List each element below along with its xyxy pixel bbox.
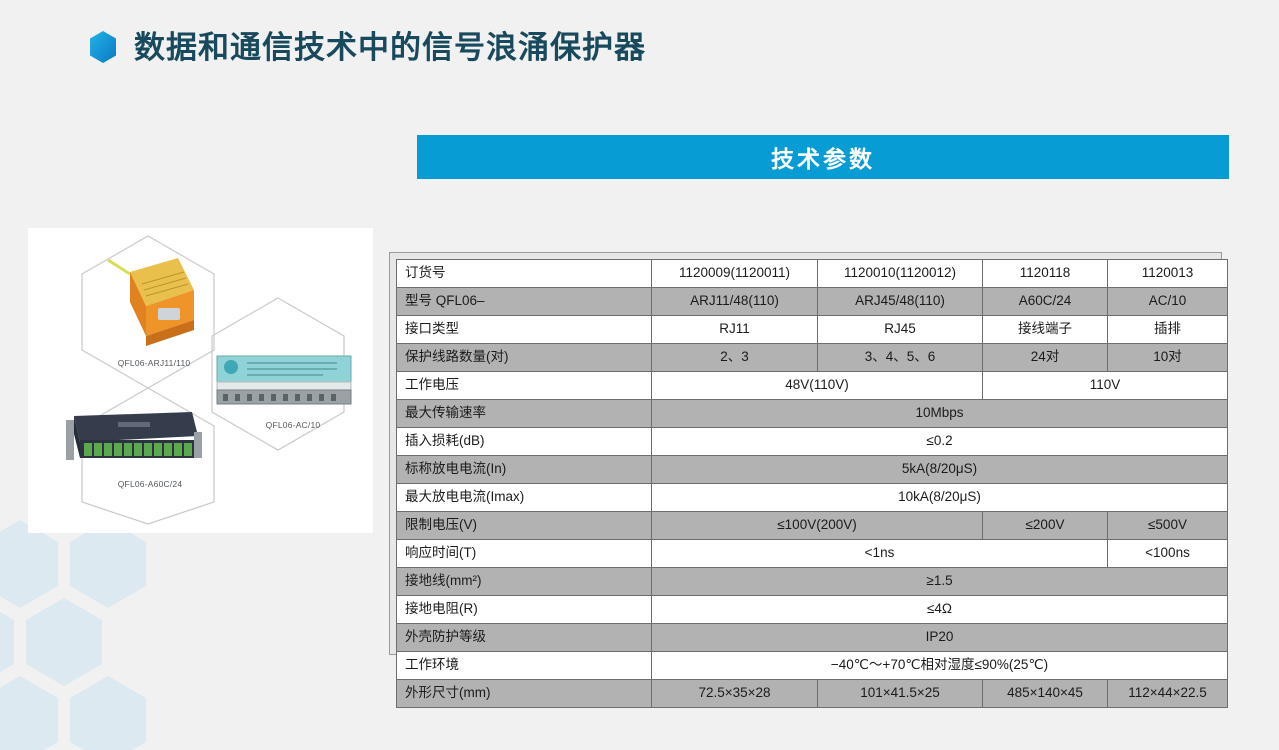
section-banner-label: 技术参数: [771, 140, 875, 174]
spec-table-body: 订货号1120009(1120011)1120010(1120012)11201…: [397, 260, 1228, 708]
spec-row-label: 限制电压(V): [397, 512, 652, 540]
spec-cell: A60C/24: [983, 288, 1108, 316]
spec-cell: 3、4、5、6: [818, 344, 983, 372]
product-label-1: QFL06-AC/10: [238, 420, 348, 430]
product-photo-ac10: [213, 348, 355, 410]
spec-table-row: 响应时间(T)<1ns<100ns: [397, 540, 1228, 568]
spec-cell: RJ11: [652, 316, 818, 344]
page-header: 数据和通信技术中的信号浪涌保护器: [88, 30, 646, 64]
spec-table-row: 最大放电电流(Imax)10kA(8/20μS): [397, 484, 1228, 512]
spec-cell: 2、3: [652, 344, 818, 372]
spec-row-label: 外形尺寸(mm): [397, 680, 652, 708]
spec-table-row: 最大传输速率10Mbps: [397, 400, 1228, 428]
spec-cell: 1120010(1120012): [818, 260, 983, 288]
spec-row-label: 响应时间(T): [397, 540, 652, 568]
spec-cell: 10对: [1108, 344, 1228, 372]
spec-row-label: 工作电压: [397, 372, 652, 400]
spec-table-row: 插入损耗(dB)≤0.2: [397, 428, 1228, 456]
spec-cell: 101×41.5×25: [818, 680, 983, 708]
spec-cell: 1120009(1120011): [652, 260, 818, 288]
product-label-2: QFL06-A60C/24: [88, 479, 212, 489]
product-image-panel: QFL06-ARJ11/110 QFL06-AC/10 QFL06-A60C/2…: [28, 228, 373, 533]
spec-table-row: 外形尺寸(mm)72.5×35×28101×41.5×25485×140×451…: [397, 680, 1228, 708]
spec-row-label: 标称放电电流(In): [397, 456, 652, 484]
spec-cell: 485×140×45: [983, 680, 1108, 708]
spec-cell: RJ45: [818, 316, 983, 344]
spec-table-row: 保护线路数量(对)2、33、4、5、624对10对: [397, 344, 1228, 372]
spec-cell: 10Mbps: [652, 400, 1228, 428]
spec-row-label: 接地电阻(R): [397, 596, 652, 624]
spec-row-label: 保护线路数量(对): [397, 344, 652, 372]
spec-cell: ≤200V: [983, 512, 1108, 540]
spec-cell: 插排: [1108, 316, 1228, 344]
spec-cell: 24对: [983, 344, 1108, 372]
spec-cell: ≥1.5: [652, 568, 1228, 596]
spec-row-label: 最大传输速率: [397, 400, 652, 428]
spec-cell: ≤4Ω: [652, 596, 1228, 624]
spec-cell: 接线端子: [983, 316, 1108, 344]
spec-table-row: 限制电压(V)≤100V(200V)≤200V≤500V: [397, 512, 1228, 540]
spec-cell: ≤500V: [1108, 512, 1228, 540]
background-hexagon-pattern: [0, 510, 380, 750]
product-photo-arj11: [90, 250, 208, 350]
spec-table: 订货号1120009(1120011)1120010(1120012)11201…: [396, 259, 1228, 708]
spec-cell: <1ns: [652, 540, 1108, 568]
spec-cell: 1120118: [983, 260, 1108, 288]
spec-table-row: 标称放电电流(In)5kA(8/20μS): [397, 456, 1228, 484]
spec-cell: 10kA(8/20μS): [652, 484, 1228, 512]
spec-table-row: 接地线(mm²)≥1.5: [397, 568, 1228, 596]
spec-cell: AC/10: [1108, 288, 1228, 316]
hexagon-icon: [88, 30, 118, 64]
spec-table-row: 外壳防护等级IP20: [397, 624, 1228, 652]
spec-cell: −40℃～+70℃相对湿度≤90%(25℃): [652, 652, 1228, 680]
spec-row-label: 最大放电电流(Imax): [397, 484, 652, 512]
spec-table-row: 接地电阻(R)≤4Ω: [397, 596, 1228, 624]
spec-row-label: 订货号: [397, 260, 652, 288]
spec-cell: 72.5×35×28: [652, 680, 818, 708]
spec-cell: 110V: [983, 372, 1228, 400]
spec-table-row: 订货号1120009(1120011)1120010(1120012)11201…: [397, 260, 1228, 288]
spec-table-row: 工作电压48V(110V)110V: [397, 372, 1228, 400]
page-title: 数据和通信技术中的信号浪涌保护器: [134, 32, 646, 63]
spec-cell: 112×44×22.5: [1108, 680, 1228, 708]
spec-cell: 5kA(8/20μS): [652, 456, 1228, 484]
product-label-0: QFL06-ARJ11/110: [94, 358, 214, 368]
spec-table-row: 型号 QFL06–ARJ11/48(110)ARJ45/48(110)A60C/…: [397, 288, 1228, 316]
spec-table-row: 工作环境−40℃～+70℃相对湿度≤90%(25℃): [397, 652, 1228, 680]
spec-cell: 48V(110V): [652, 372, 983, 400]
section-banner: 技术参数: [417, 135, 1229, 179]
spec-table-frame: 订货号1120009(1120011)1120010(1120012)11201…: [389, 252, 1222, 655]
spec-cell: IP20: [652, 624, 1228, 652]
spec-table-row: 接口类型RJ11RJ45接线端子插排: [397, 316, 1228, 344]
spec-row-label: 工作环境: [397, 652, 652, 680]
spec-row-label: 插入损耗(dB): [397, 428, 652, 456]
spec-row-label: 外壳防护等级: [397, 624, 652, 652]
spec-row-label: 接地线(mm²): [397, 568, 652, 596]
spec-cell: <100ns: [1108, 540, 1228, 568]
spec-cell: 1120013: [1108, 260, 1228, 288]
spec-cell: ≤100V(200V): [652, 512, 983, 540]
spec-row-label: 型号 QFL06–: [397, 288, 652, 316]
spec-cell: ≤0.2: [652, 428, 1228, 456]
spec-cell: ARJ45/48(110): [818, 288, 983, 316]
spec-row-label: 接口类型: [397, 316, 652, 344]
product-photo-a60c24: [58, 410, 206, 468]
spec-cell: ARJ11/48(110): [652, 288, 818, 316]
